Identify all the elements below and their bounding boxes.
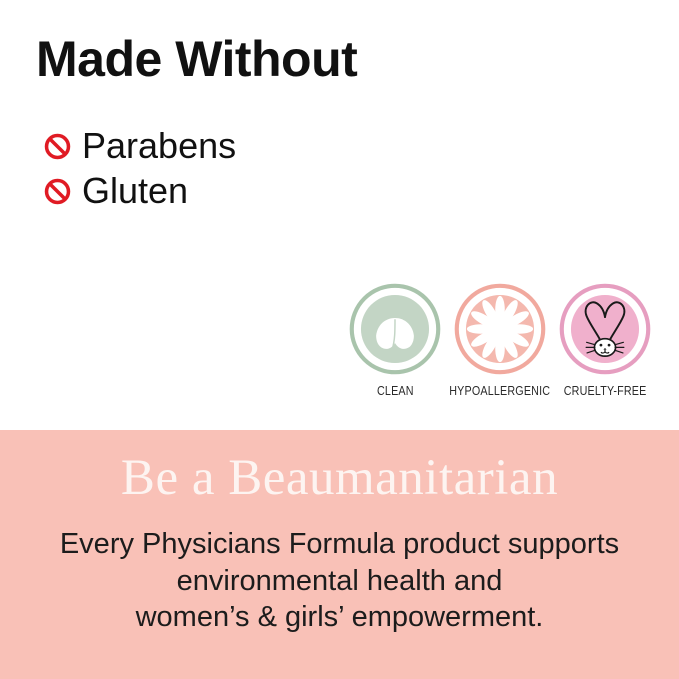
exclusion-label: Parabens — [82, 128, 236, 164]
list-item: Parabens — [44, 125, 236, 167]
product-info-graphic: Made Without Parabens Gluten — [0, 0, 679, 679]
prohibition-icon — [44, 178, 71, 205]
banner-title: Be a Beaumanitarian — [0, 453, 679, 504]
prohibition-icon — [44, 133, 71, 160]
leaves-icon — [349, 283, 441, 375]
banner-body: Every Physicians Formula product support… — [0, 526, 679, 636]
banner-body-line: environmental health and — [0, 563, 679, 600]
starburst-flower-icon — [454, 283, 546, 375]
banner-body-line: Every Physicians Formula product support… — [0, 526, 679, 563]
exclusion-list: Parabens Gluten — [44, 125, 236, 215]
badge-clean: CLEAN — [345, 283, 445, 398]
exclusion-label: Gluten — [82, 173, 188, 209]
badge-label: CLEAN — [377, 384, 414, 398]
badge-label: HYPOALLERGENIC — [450, 384, 551, 398]
badge-cruelty-free: CRUELTY-FREE — [555, 283, 655, 398]
page-title: Made Without — [36, 33, 357, 86]
badge-label: CRUELTY-FREE — [564, 384, 647, 398]
made-without-section: Made Without Parabens Gluten — [0, 0, 679, 430]
certification-badges: CLEAN — [345, 283, 655, 398]
badge-hypoallergenic: HYPOALLERGENIC — [450, 283, 550, 398]
list-item: Gluten — [44, 170, 236, 212]
beaumanitarian-banner: Be a Beaumanitarian Every Physicians For… — [0, 430, 679, 679]
bunny-heart-icon — [559, 283, 651, 375]
banner-body-line: women’s & girls’ empowerment. — [0, 599, 679, 636]
